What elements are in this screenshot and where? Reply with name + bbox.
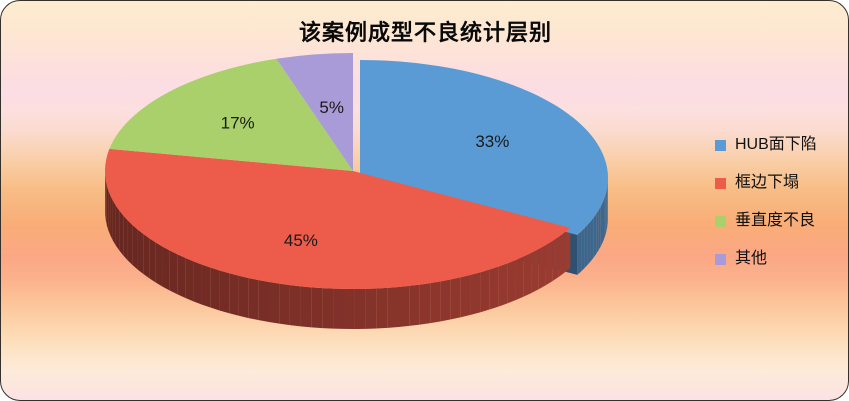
- pie-slice: [149, 238, 155, 282]
- pie-slice: [355, 289, 366, 329]
- pie-slice: [143, 234, 149, 278]
- pie-slice: [377, 288, 388, 329]
- pie-slice: [113, 201, 116, 246]
- pie-slice: [441, 279, 451, 321]
- pie-slice: [163, 247, 170, 291]
- slice-percent-label: 17%: [221, 114, 255, 133]
- pie-slice: [116, 206, 119, 251]
- pie-slice: [119, 211, 123, 256]
- pie-slice: [594, 214, 597, 258]
- legend-swatch-icon: [715, 254, 726, 265]
- pie-slice: [105, 175, 106, 220]
- chart-legend: HUB面下陷 框边下塌 垂直度不良 其他: [715, 137, 817, 267]
- legend-swatch-icon: [715, 216, 726, 227]
- pie-slice: [399, 286, 410, 327]
- legend-swatch-icon: [715, 140, 726, 151]
- pie-slice: [344, 289, 355, 329]
- pie-slice: [607, 184, 608, 228]
- slice-percent-label: 45%: [284, 231, 318, 250]
- pie-slice: [269, 282, 279, 324]
- legend-label: 其他: [735, 251, 767, 267]
- pie-slice: [420, 283, 430, 325]
- pie-slice: [507, 260, 515, 303]
- pie-slice: [211, 268, 220, 311]
- pie-slice: [107, 185, 109, 230]
- pie-slice: [388, 287, 399, 328]
- pie-slice: [220, 271, 229, 314]
- pie-slices-generated: 33%45%17%5%: [105, 53, 608, 329]
- pie-slice: [170, 251, 178, 295]
- pie-slice: [451, 277, 461, 319]
- pie-slice: [489, 267, 498, 310]
- legend-swatch-icon: [715, 178, 726, 189]
- chart-container: 该案例成型不良统计层别: [0, 0, 849, 401]
- pie-slice: [138, 229, 144, 273]
- pie-slice: [498, 263, 507, 306]
- pie-slice: [177, 254, 185, 298]
- legend-label: HUB面下陷: [735, 137, 817, 153]
- pie-slice: [565, 228, 570, 273]
- pie-slice: [524, 253, 532, 297]
- pie-slice: [333, 289, 344, 329]
- slice-percent-label: 5%: [319, 98, 344, 117]
- pie-slice: [605, 191, 606, 235]
- pie-slice: [409, 285, 420, 326]
- pie-slice: [156, 242, 163, 286]
- pie-slice: [471, 272, 481, 315]
- pie-slice: [128, 220, 133, 265]
- pie-slice: [290, 285, 301, 326]
- pie-slice: [606, 188, 607, 232]
- pie-slice: [311, 287, 322, 328]
- pie-slice: [202, 265, 211, 308]
- pie-slice: [249, 278, 259, 320]
- legend-item-hub[interactable]: HUB面下陷: [715, 137, 817, 153]
- pie-slice: [480, 270, 489, 313]
- pie-slice: [322, 288, 333, 329]
- pie-slice: [553, 237, 559, 281]
- pie-slice: [239, 276, 249, 318]
- pie-slice: [516, 257, 524, 301]
- pie-slice: [110, 195, 113, 240]
- pie-slice: [596, 210, 598, 254]
- pie-slice: [108, 190, 110, 235]
- pie-slice: [581, 228, 585, 271]
- pie-slice: [539, 245, 546, 289]
- pie-slice: [123, 215, 127, 260]
- slice-percent-label: 33%: [475, 132, 509, 151]
- pie-slice: [531, 249, 538, 293]
- pie-slice: [279, 284, 290, 325]
- pie-slice: [430, 281, 440, 323]
- pie-slice: [591, 217, 594, 261]
- pie-slice: [546, 241, 553, 285]
- pie-slice: [366, 288, 377, 328]
- pie-slice: [604, 195, 605, 239]
- pie-slice: [559, 232, 565, 276]
- legend-label: 框边下塌: [735, 175, 799, 191]
- pie-slice: [588, 221, 591, 265]
- pie-slice: [229, 273, 239, 316]
- legend-item-frame-sag[interactable]: 框边下塌: [715, 175, 817, 191]
- pie-slice: [259, 280, 269, 322]
- pie-slice: [577, 231, 581, 274]
- pie-slice: [599, 206, 601, 250]
- pie-slice: [461, 275, 471, 317]
- legend-item-other[interactable]: 其他: [715, 251, 817, 267]
- pie-slice: [106, 180, 107, 225]
- pie-slice: [132, 225, 137, 270]
- pie-slice: [601, 203, 603, 247]
- pie-slice: [185, 258, 193, 301]
- pie-slice: [193, 261, 202, 304]
- pie-slice: [301, 286, 312, 327]
- pie-slice: [602, 199, 604, 243]
- pie-slice: [585, 225, 588, 268]
- legend-label: 垂直度不良: [735, 213, 815, 229]
- legend-item-perpendicularity[interactable]: 垂直度不良: [715, 213, 817, 229]
